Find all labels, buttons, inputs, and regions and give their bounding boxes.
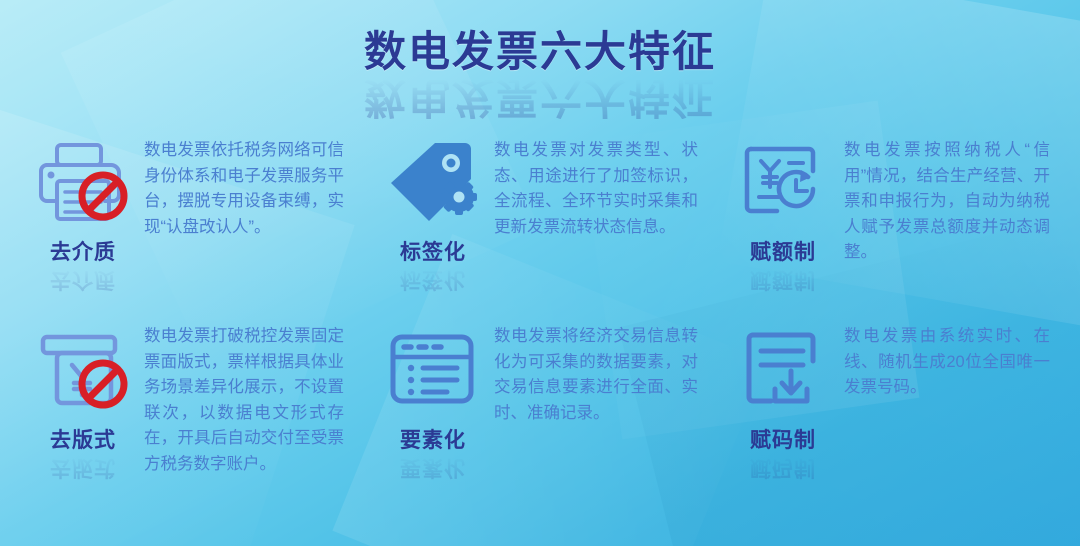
page-title-reflection: 数电发票六大特征: [0, 75, 1080, 119]
feature-description: 数电发票对发票类型、状态、用途进行了加签标识，全流程、全环节实时采集和更新发票流…: [494, 132, 698, 240]
page-title-block: 数电发票六大特征 数电发票六大特征: [0, 30, 1080, 119]
feature-code-assignment: 赋码制 赋码制 数电发票由系统实时、在线、随机生成20位全国唯一发票号码。: [722, 318, 1062, 484]
feature-icon-column: 赋额制 赋额制: [722, 132, 844, 296]
feature-description: 数电发票由系统实时、在线、随机生成20位全国唯一发票号码。: [844, 318, 1050, 401]
receipt-yuan-prohibited-icon: [35, 324, 131, 416]
feature-icon-column: 要素化 要素化: [372, 318, 494, 484]
feature-no-media: 去介质 去介质 数电发票依托税务网络可信身份体系和电子发票服务平台，摆脱专用设备…: [22, 132, 362, 296]
feature-icon-column: 去介质 去介质: [22, 132, 144, 296]
feature-description: 数电发票依托税务网络可信身份体系和电子发票服务平台，摆脱专用设备束缚，实现“认盘…: [144, 132, 344, 240]
feature-label-reflection: 去介质: [50, 266, 116, 296]
feature-label: 要素化: [400, 424, 466, 454]
feature-icon-column: 标签化 标签化: [372, 132, 494, 296]
feature-label-reflection: 去版式: [50, 454, 116, 484]
document-download-icon: [735, 324, 831, 416]
tag-gear-icon: [385, 136, 481, 228]
printer-prohibited-icon: [35, 136, 131, 228]
feature-label-reflection: 要素化: [400, 454, 466, 484]
feature-description: 数电发票按照纳税人“信用”情况，结合生产经营、开票和申报行为，自动为纳税人赋予发…: [844, 132, 1050, 266]
feature-icon-column: 赋码制 赋码制: [722, 318, 844, 484]
feature-elementization: 要素化 要素化 数电发票将经济交易信息转化为可采集的数据要素，对交易信息要素进行…: [372, 318, 712, 484]
browser-list-icon: [385, 324, 481, 416]
feature-label-reflection: 赋额制: [750, 266, 816, 296]
feature-description: 数电发票将经济交易信息转化为可采集的数据要素，对交易信息要素进行全面、实时、准确…: [494, 318, 698, 426]
feature-label-reflection: 标签化: [400, 266, 466, 296]
feature-tagging: 标签化 标签化 数电发票对发票类型、状态、用途进行了加签标识，全流程、全环节实时…: [372, 132, 712, 296]
feature-label: 去版式: [50, 424, 116, 454]
feature-label-reflection: 赋码制: [750, 454, 816, 484]
feature-no-format: 去版式 去版式 数电发票打破税控发票固定票面版式，票样根据具体业务场景差异化展示…: [22, 318, 362, 484]
feature-label: 赋额制: [750, 236, 816, 266]
feature-label: 去介质: [50, 236, 116, 266]
feature-credit-quota: 赋额制 赋额制 数电发票按照纳税人“信用”情况，结合生产经营、开票和申报行为，自…: [722, 132, 1062, 296]
feature-description: 数电发票打破税控发票固定票面版式，票样根据具体业务场景差异化展示，不设置联次，以…: [144, 318, 344, 477]
invoice-clock-icon: [735, 136, 831, 228]
infographic-page: 数电发票六大特征 数电发票六大特征: [0, 0, 1080, 546]
features-grid: 去介质 去介质 数电发票依托税务网络可信身份体系和电子发票服务平台，摆脱专用设备…: [22, 132, 1062, 484]
feature-icon-column: 去版式 去版式: [22, 318, 144, 484]
feature-label: 赋码制: [750, 424, 816, 454]
prohibition-icon: [77, 358, 129, 410]
page-title: 数电发票六大特征: [0, 30, 1080, 74]
feature-label: 标签化: [400, 236, 466, 266]
prohibition-icon: [77, 170, 129, 222]
